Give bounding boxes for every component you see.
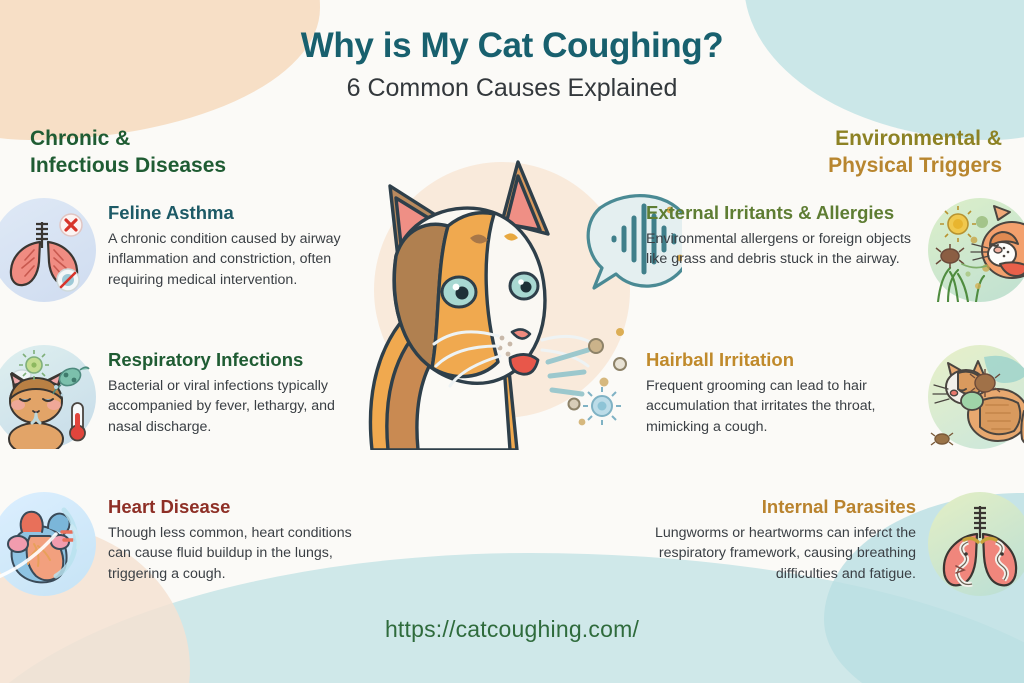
footer-url[interactable]: https://catcoughing.com/ bbox=[0, 616, 1024, 643]
page-title: Why is My Cat Coughing? bbox=[0, 26, 1024, 66]
cat-grooming-hairball-icon bbox=[928, 345, 1024, 449]
cause-text-block: Respiratory Infections Bacterial or vira… bbox=[108, 345, 370, 437]
cause-text-block: External Irritants & Allergies Environme… bbox=[646, 198, 916, 270]
cause-description: Frequent grooming can lead to hair accum… bbox=[646, 376, 916, 436]
right-column-heading-line2: Physical Triggers bbox=[682, 153, 1002, 180]
lungs-parasites-glyph bbox=[928, 492, 1024, 596]
lungs-parasites-icon bbox=[928, 492, 1024, 596]
cause-title: Respiratory Infections bbox=[108, 349, 370, 371]
cat-allergens-grass-icon bbox=[928, 198, 1024, 302]
lungs-blocked-glyph bbox=[0, 198, 96, 302]
page-subtitle: 6 Common Causes Explained bbox=[0, 74, 1024, 103]
anatomical-heart-glyph bbox=[0, 492, 96, 596]
infographic-poster: Why is My Cat Coughing? 6 Common Causes … bbox=[0, 0, 1024, 683]
sick-cat-icon bbox=[0, 345, 96, 449]
cat-mouth bbox=[510, 354, 538, 374]
cause-title: Heart Disease bbox=[108, 496, 370, 518]
cause-description: Environmental allergens or foreign objec… bbox=[646, 229, 916, 269]
cause-item-respiratory-infections: Respiratory Infections Bacterial or vira… bbox=[0, 345, 382, 449]
cause-text-block: Heart Disease Though less common, heart … bbox=[108, 492, 370, 584]
left-column-heading-line2: Infectious Diseases bbox=[30, 153, 330, 180]
cause-item-external-irritants: External Irritants & Allergies Environme… bbox=[632, 198, 1024, 302]
cause-text-block: Hairball Irritation Frequent grooming ca… bbox=[646, 345, 916, 437]
cat-grooming-hairball-glyph bbox=[928, 345, 1024, 449]
cause-item-hairball-irritation: Hairball Irritation Frequent grooming ca… bbox=[632, 345, 1024, 449]
cat-allergens-grass-glyph bbox=[928, 198, 1024, 302]
cause-text-block: Internal Parasites Lungworms or heartwor… bbox=[632, 492, 916, 584]
sick-cat-glyph bbox=[0, 345, 96, 449]
cause-item-feline-asthma: Feline Asthma A chronic condition caused… bbox=[0, 198, 382, 302]
lungs-blocked-icon bbox=[0, 198, 96, 302]
cause-title: Internal Parasites bbox=[632, 496, 916, 518]
anatomical-heart-icon bbox=[0, 492, 96, 596]
cause-text-block: Feline Asthma A chronic condition caused… bbox=[108, 198, 370, 290]
cause-description: Lungworms or heartworms can inferct the … bbox=[632, 523, 916, 583]
left-column-heading-line1: Chronic & bbox=[30, 126, 330, 153]
cause-title: Feline Asthma bbox=[108, 202, 370, 224]
cause-description: Bacterial or viral infections typically … bbox=[108, 376, 370, 436]
cause-description: A chronic condition caused by airway inf… bbox=[108, 229, 370, 289]
cause-item-internal-parasites: Internal Parasites Lungworms or heartwor… bbox=[632, 492, 1024, 596]
cause-item-heart-disease: Heart Disease Though less common, heart … bbox=[0, 492, 382, 596]
right-column-heading-line1: Environmental & bbox=[682, 126, 1002, 153]
cause-description: Though less common, heart conditions can… bbox=[108, 523, 370, 583]
right-column-heading: Environmental & Physical Triggers bbox=[682, 126, 1002, 179]
cause-title: Hairball Irritation bbox=[646, 349, 916, 371]
left-column-heading: Chronic & Infectious Diseases bbox=[30, 126, 330, 179]
poster-header: Why is My Cat Coughing? 6 Common Causes … bbox=[0, 26, 1024, 103]
cause-title: External Irritants & Allergies bbox=[646, 202, 916, 224]
